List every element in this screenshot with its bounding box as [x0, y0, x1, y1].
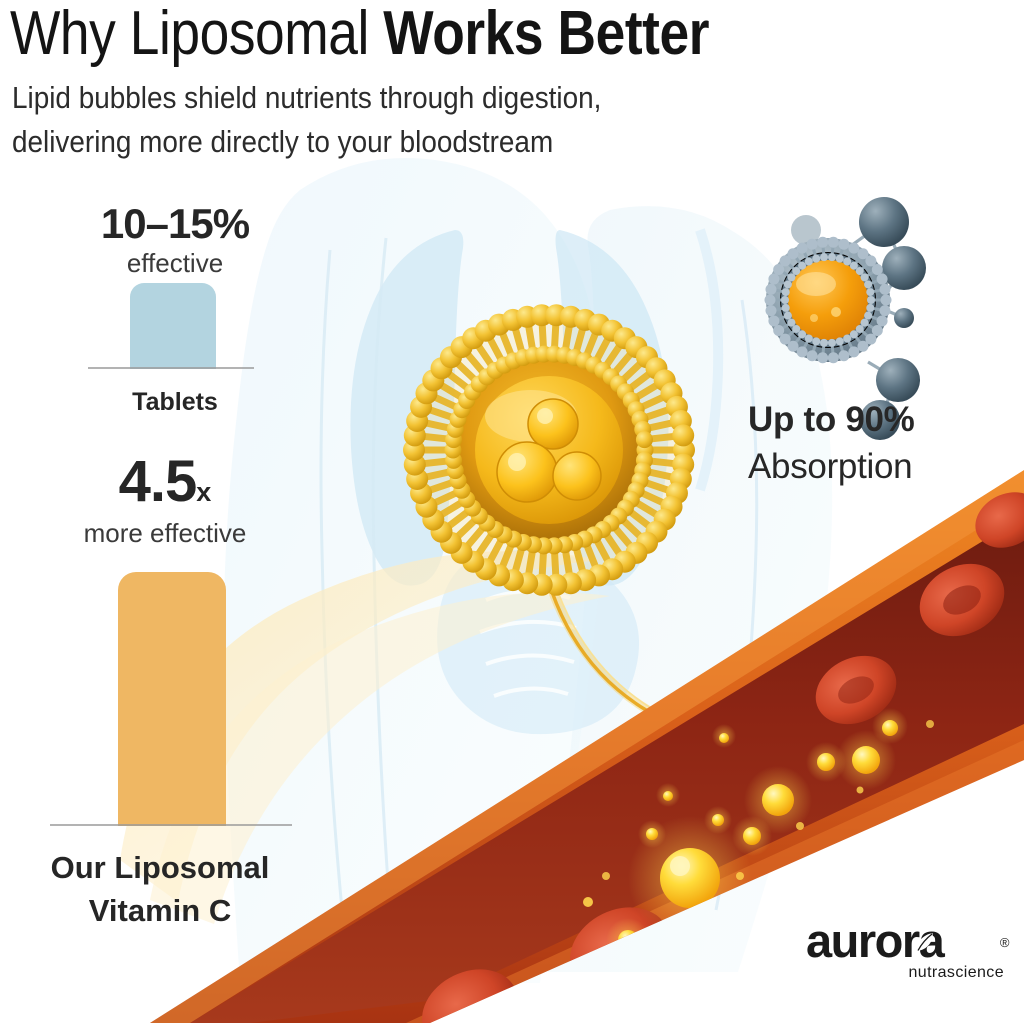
liposomal-number: 4.5	[119, 449, 197, 514]
liposomal-sublabel: more effective	[20, 518, 310, 549]
liposomal-label-line-1: Our Liposomal	[0, 846, 320, 889]
absorption-subtitle: Absorption	[748, 447, 1024, 487]
tablets-category-label: Tablets	[30, 388, 320, 417]
subtitle-line-1: Lipid bubbles shield nutrients through d…	[12, 76, 822, 120]
subtitle-line-2: delivering more directly to your bloodst…	[12, 120, 822, 164]
liposomal-category-label: Our Liposomal Vitamin C	[0, 846, 320, 932]
leaf-icon	[911, 930, 937, 956]
absorption-title: Up to 90%	[748, 400, 1008, 440]
liposomal-unit: x	[196, 477, 211, 507]
logo-wordmark: aurora ®	[806, 916, 1006, 966]
bar-tablets	[130, 283, 216, 369]
page-title: Why Liposomal Works Better	[10, 2, 853, 66]
subtitle: Lipid bubbles shield nutrients through d…	[12, 76, 822, 164]
registered-trademark-icon: ®	[1000, 918, 1008, 968]
headline-bold: Works Better	[383, 0, 709, 68]
headline-light: Why Liposomal	[10, 0, 383, 68]
baseline-liposomal	[50, 824, 292, 826]
baseline-tablets	[88, 367, 254, 369]
tablets-value: 10–15%	[30, 200, 320, 248]
infographic-root: Why Liposomal Works Better Lipid bubbles…	[0, 0, 1024, 1023]
bar-liposomal	[118, 572, 226, 826]
liposome-main	[403, 304, 695, 596]
liposome-small	[765, 237, 892, 364]
brand-logo: aurora ® nutrascience	[806, 916, 1006, 986]
liposomal-label-line-2: Vitamin C	[0, 889, 320, 932]
logo-tagline: nutrascience	[908, 964, 1004, 982]
liposomal-value: 4.5x	[20, 448, 310, 515]
tablets-sublabel: effective	[30, 248, 320, 279]
